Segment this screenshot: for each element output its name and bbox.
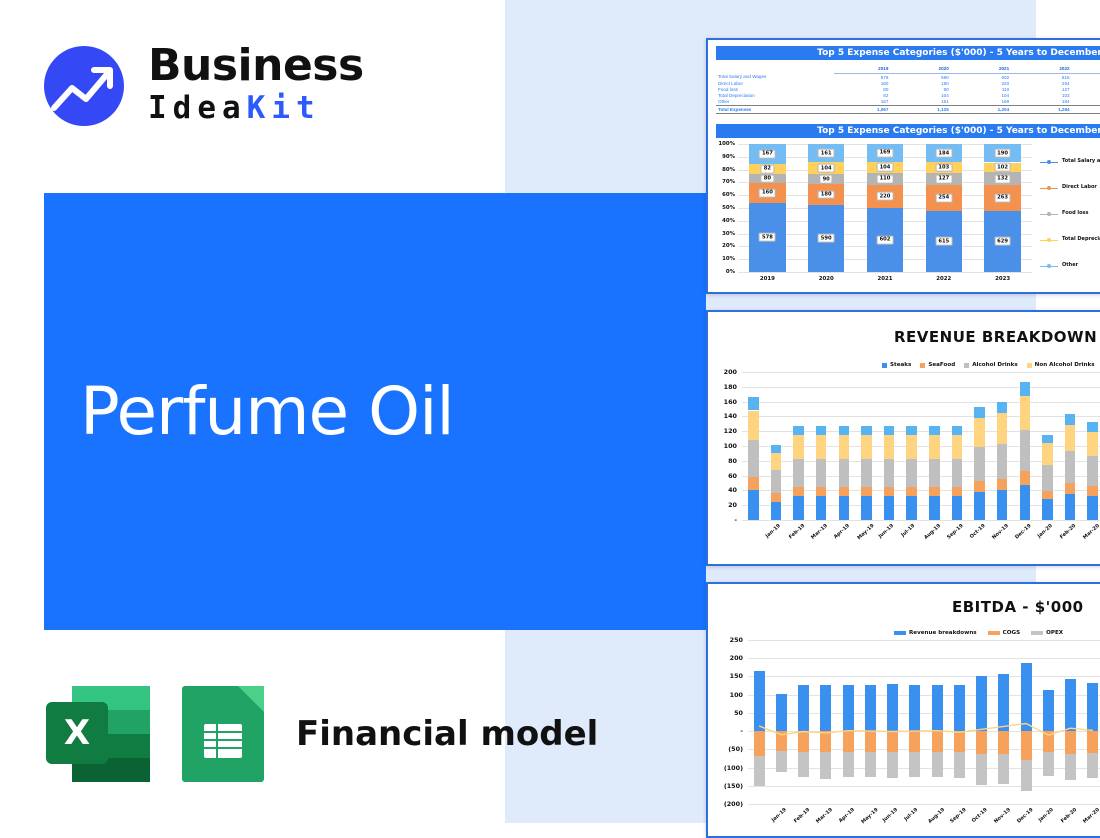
bar-segment — [820, 752, 831, 779]
bar: 602220110104169 — [867, 144, 903, 272]
legend-item: Direct Labor — [1062, 184, 1097, 190]
expense-stacked-chart: 100%90%80%70%60%50%40%30%20%10%0%5781608… — [716, 140, 1100, 290]
bar — [997, 372, 1007, 520]
y-axis-label: 40% — [716, 218, 735, 224]
chart-legend: SteaksSeaFoodAlcohol DrinksNon Alcohol D… — [882, 362, 1100, 368]
bar-value-label: 615 — [935, 237, 952, 246]
bar-segment: 161 — [808, 144, 844, 162]
x-axis-label: Aug-19 — [924, 523, 943, 541]
bar: 59018090104161 — [808, 144, 844, 272]
y-axis-label: 160 — [716, 398, 737, 406]
y-axis-label: (200) — [716, 800, 743, 808]
y-axis-label: (50) — [716, 745, 743, 753]
bar-segment: 169 — [867, 144, 903, 162]
bar-segment — [954, 731, 965, 752]
bar-value-label: 220 — [877, 192, 894, 201]
bar-segment — [861, 496, 871, 520]
bar-segment: 102 — [984, 163, 1020, 173]
bar-value-label: 127 — [935, 175, 952, 184]
bar-segment — [748, 490, 758, 520]
bar-value-label: 590 — [818, 234, 835, 243]
y-axis-label: 30% — [716, 231, 735, 237]
revenue-chart-title: REVENUE BREAKDOWN - $'000 — [894, 328, 1100, 346]
y-axis-label: 250 — [716, 636, 743, 644]
y-axis-label: 60% — [716, 192, 735, 198]
y-axis-label: (100) — [716, 764, 743, 772]
bar — [816, 372, 826, 520]
bar-segment — [906, 487, 916, 497]
bar-segment — [1065, 754, 1076, 780]
legend-label: SeaFood — [928, 362, 955, 368]
legend-swatch — [964, 363, 969, 368]
bar-segment — [1042, 491, 1052, 499]
bar-segment — [776, 751, 787, 772]
bar-segment — [952, 426, 962, 435]
bar-segment — [754, 756, 765, 787]
legend-swatch — [882, 363, 887, 368]
bar-value-label: 167 — [759, 150, 776, 159]
bar-segment — [776, 731, 787, 751]
legend-swatch — [1040, 266, 1058, 268]
bar — [1087, 683, 1098, 731]
y-axis-label: 40 — [716, 486, 737, 494]
bar-segment — [771, 445, 781, 452]
bar-segment — [906, 426, 916, 435]
bar-segment: 110 — [867, 173, 903, 185]
bar — [1087, 372, 1097, 520]
bar-segment — [976, 754, 987, 785]
bar — [998, 674, 1009, 732]
table-total-row: Total Expenses 1,067 1,125 1,204 1,284 1… — [716, 105, 1100, 113]
bar-segment: 263 — [984, 185, 1020, 211]
bar — [776, 694, 787, 731]
bar-segment — [820, 731, 831, 752]
bar-segment — [816, 459, 826, 488]
bar-segment — [1020, 471, 1030, 485]
page-title: Perfume Oil — [80, 373, 454, 450]
bar-segment — [839, 435, 849, 459]
bar-segment — [1087, 496, 1097, 520]
bar-value-label: 629 — [994, 237, 1011, 246]
gridline — [748, 786, 1100, 787]
bar-segment: 629 — [984, 211, 1020, 272]
screenshot-card-ebitda: EBITDA - $'000 Revenue breakdownsCOGSOPE… — [706, 582, 1100, 838]
bar-segment — [997, 444, 1007, 479]
bar-segment — [1020, 430, 1030, 471]
bar — [932, 685, 943, 731]
bar-value-label: 102 — [994, 163, 1011, 172]
bar-segment — [909, 752, 920, 777]
bar — [865, 685, 876, 731]
x-axis-label: May-19 — [860, 807, 879, 825]
excel-icon-letter: X — [46, 702, 108, 764]
bar-segment — [1065, 731, 1076, 754]
bar-segment — [1065, 483, 1075, 494]
legend-swatch — [1031, 631, 1043, 635]
bar-segment: 103 — [926, 162, 962, 172]
brand-logo: Business IdeaKit — [44, 42, 384, 130]
bar-segment — [974, 492, 984, 520]
x-axis-label: Feb-19 — [788, 523, 806, 540]
bar-segment — [1042, 435, 1052, 443]
expense-chart-title: Top 5 Expense Categories ($'000) - 5 Yea… — [716, 124, 1100, 138]
bar-segment: 132 — [984, 172, 1020, 185]
x-axis-label: Dec-19 — [1016, 807, 1035, 825]
bar: 615254127103184 — [926, 144, 962, 272]
bar-segment — [748, 477, 758, 490]
x-axis-label: Jan-19 — [765, 523, 782, 539]
bar-segment: 254 — [926, 185, 962, 210]
bar-segment — [1020, 382, 1030, 395]
bar — [974, 372, 984, 520]
bar-segment — [997, 490, 1007, 520]
bar-segment — [798, 731, 809, 752]
bar-segment — [839, 459, 849, 488]
bar-segment — [1043, 731, 1054, 751]
bar-value-label: 104 — [818, 164, 835, 173]
y-axis-label: 90% — [716, 154, 735, 160]
bar-segment: 184 — [926, 144, 962, 162]
bar-segment — [1020, 485, 1030, 520]
bar-segment — [839, 487, 849, 496]
x-axis-label: 2022 — [914, 276, 973, 282]
y-axis-label: 70% — [716, 179, 735, 185]
x-axis-label: Jan-19 — [770, 807, 787, 823]
x-axis-label: Jul-19 — [900, 523, 916, 538]
bar-segment — [861, 459, 871, 488]
google-sheets-icon — [170, 680, 278, 788]
bar-segment — [997, 413, 1007, 443]
x-axis-label: May-19 — [856, 523, 875, 541]
bar-segment — [793, 459, 803, 488]
gridline — [748, 676, 1100, 677]
bar-segment — [865, 752, 876, 777]
bar-segment — [861, 426, 871, 435]
bar-segment — [793, 496, 803, 520]
y-axis-label: 200 — [716, 368, 737, 376]
y-axis-label: 10% — [716, 256, 735, 262]
brand-name-line2-accent: Kit — [247, 90, 321, 126]
bar-segment — [974, 447, 984, 481]
x-axis-label: Jul-19 — [903, 807, 919, 822]
x-axis-label: Mar-19 — [810, 523, 829, 541]
legend-item: Total Depreciation — [1062, 236, 1100, 242]
x-axis-label: 2023 — [973, 276, 1032, 282]
x-axis-label: Nov-19 — [993, 807, 1012, 825]
y-axis-label: 20% — [716, 243, 735, 249]
gridline — [748, 640, 1100, 641]
bar — [884, 372, 894, 520]
gridline — [748, 658, 1100, 659]
bar-segment — [929, 496, 939, 520]
bar-segment — [906, 459, 916, 487]
bar-segment — [1042, 465, 1052, 492]
bar — [952, 372, 962, 520]
bar-segment — [771, 470, 781, 492]
brand-name-line2-dark: Idea — [148, 90, 247, 126]
y-axis-label: 80 — [716, 457, 737, 465]
bar-segment — [816, 487, 826, 496]
format-badges: X Financial model — [46, 680, 598, 788]
bar-segment — [843, 752, 854, 777]
bar-segment: 590 — [808, 205, 844, 272]
bar-segment — [748, 411, 758, 441]
bar-value-label: 263 — [994, 194, 1011, 203]
bar — [909, 685, 920, 731]
x-axis-label: Feb-20 — [1060, 807, 1078, 824]
bar-segment — [861, 487, 871, 496]
bar-segment — [932, 731, 943, 752]
bar-segment — [793, 487, 803, 496]
bar-value-label: 80 — [761, 174, 774, 183]
microsoft-excel-icon: X — [46, 680, 154, 788]
ebitda-chart-title: EBITDA - $'000 — [952, 598, 1084, 616]
y-axis-label: 80% — [716, 167, 735, 173]
bar-value-label: 90 — [820, 175, 833, 184]
bar — [1065, 372, 1075, 520]
bar-segment — [906, 435, 916, 459]
bar-segment — [998, 754, 1009, 784]
y-axis-label: 120 — [716, 427, 737, 435]
bar-segment — [1065, 414, 1075, 425]
bar-value-label: 161 — [818, 149, 835, 158]
bar-segment — [976, 731, 987, 754]
badge-label: Financial model — [296, 714, 598, 754]
bar — [1021, 663, 1032, 731]
bar-segment — [1087, 422, 1097, 432]
bar-segment — [929, 487, 939, 497]
bar-segment — [754, 731, 765, 755]
x-axis-label: Oct-19 — [969, 523, 987, 540]
bar-segment — [909, 731, 920, 752]
x-axis-label: Jan-20 — [1037, 807, 1054, 823]
bar-segment — [816, 426, 826, 435]
bar-segment — [1087, 432, 1097, 456]
x-axis-label: Jan-20 — [1036, 523, 1053, 539]
bar-segment — [793, 426, 803, 435]
bar-segment — [1021, 731, 1032, 759]
table-row: Total Salary and Wages 578 590 602 615 6… — [716, 74, 1100, 81]
x-axis-label: Mar-20 — [1082, 807, 1100, 825]
x-axis-label: Apr-19 — [837, 807, 855, 824]
bar-segment — [865, 731, 876, 752]
bar-segment — [974, 418, 984, 447]
bar-segment — [1042, 499, 1052, 520]
bar-segment — [1043, 752, 1054, 777]
bar: 629263132102190 — [984, 144, 1020, 272]
bar-segment — [861, 435, 871, 459]
bar-segment — [748, 397, 758, 410]
gridline — [738, 272, 1032, 273]
table-row: Other 167 161 169 184 190 — [716, 99, 1100, 106]
revenue-breakdown-chart: SteaksSeaFoodAlcohol DrinksNon Alcohol D… — [716, 346, 1100, 562]
legend-label: Revenue breakdowns — [909, 630, 977, 636]
bar-segment — [1087, 753, 1098, 779]
bar — [793, 372, 803, 520]
bar-segment — [997, 479, 1007, 491]
bar — [1043, 690, 1054, 731]
gridline — [748, 804, 1100, 805]
x-axis-label: 2021 — [856, 276, 915, 282]
legend-label: Alcohol Drinks — [972, 362, 1017, 368]
bar-segment: 602 — [867, 208, 903, 272]
x-axis-label: Oct-19 — [971, 807, 989, 824]
bar-segment — [816, 435, 826, 459]
bar-value-label: 103 — [935, 163, 952, 172]
bar-segment — [952, 459, 962, 487]
bar-segment: 190 — [984, 144, 1020, 162]
bar-segment — [906, 496, 916, 520]
bar — [1042, 372, 1052, 520]
x-axis-label: Aug-19 — [927, 807, 946, 825]
bar-segment: 220 — [867, 185, 903, 208]
bar-segment — [884, 496, 894, 520]
bar — [839, 372, 849, 520]
legend-item: Other — [1062, 262, 1078, 268]
bar-value-label: 254 — [935, 194, 952, 203]
bar-value-label: 190 — [994, 149, 1011, 158]
y-axis-label: 50 — [716, 709, 743, 717]
x-axis-label: Mar-19 — [815, 807, 834, 825]
legend-swatch — [894, 631, 906, 635]
bar-segment — [793, 435, 803, 459]
bar-value-label: 578 — [759, 233, 776, 242]
bar-segment — [952, 496, 962, 520]
bar-segment: 90 — [808, 174, 844, 184]
y-axis-label: 0% — [716, 269, 735, 275]
bar-segment — [887, 731, 898, 752]
expense-table: 2019 2020 2021 2022 2023 Total Salary an… — [716, 66, 1100, 114]
bar-segment — [929, 435, 939, 459]
bar-segment — [997, 402, 1007, 413]
bar — [887, 684, 898, 731]
bar — [954, 685, 965, 731]
x-axis-label: Feb-20 — [1059, 523, 1077, 540]
legend-swatch — [920, 363, 925, 368]
bar-segment: 180 — [808, 184, 844, 204]
screenshot-card-revenue: REVENUE BREAKDOWN - $'000 SteaksSeaFoodA… — [706, 310, 1100, 566]
bar-segment: 104 — [808, 162, 844, 174]
bar-segment: 104 — [867, 162, 903, 173]
bar-segment — [1065, 425, 1075, 451]
bar-segment — [884, 426, 894, 435]
trend-up-arrow-icon — [44, 46, 124, 126]
legend-label: Non Alcohol Drinks — [1035, 362, 1095, 368]
bar-segment: 167 — [749, 144, 785, 164]
bar-segment — [884, 459, 894, 487]
bar-segment — [998, 731, 1009, 754]
table-header-row: 2019 2020 2021 2022 2023 — [716, 66, 1100, 74]
y-axis-label: 200 — [716, 654, 743, 662]
bar-value-label: 169 — [877, 149, 894, 158]
legend-swatch — [1040, 162, 1058, 164]
expense-table-title: Top 5 Expense Categories ($'000) - 5 Yea… — [716, 46, 1100, 60]
bar-segment — [932, 752, 943, 777]
bar-segment — [974, 407, 984, 418]
bar-value-label: 184 — [935, 149, 952, 158]
bar-segment — [952, 435, 962, 459]
legend-swatch — [1040, 188, 1058, 190]
legend-label: OPEX — [1046, 630, 1063, 636]
bar — [754, 671, 765, 731]
y-axis-label: - — [716, 516, 737, 524]
bar-segment — [929, 426, 939, 435]
x-axis-label: Sep-19 — [949, 807, 968, 825]
bar-segment — [884, 487, 894, 497]
bar-segment — [771, 453, 781, 471]
y-axis-label: 50% — [716, 205, 735, 211]
bar-segment — [1020, 396, 1030, 431]
y-axis-label: - — [716, 727, 743, 735]
x-axis-label: Dec-19 — [1014, 523, 1033, 541]
bar-segment — [929, 459, 939, 487]
y-axis-label: (150) — [716, 782, 743, 790]
bar — [906, 372, 916, 520]
legend-label: Steaks — [890, 362, 911, 368]
bar-segment — [1087, 731, 1098, 753]
y-axis-label: 60 — [716, 472, 737, 480]
chart-legend: Revenue breakdownsCOGSOPEX — [894, 630, 1071, 636]
bar — [771, 372, 781, 520]
y-axis-label: 100 — [716, 691, 743, 699]
gridline — [742, 520, 1100, 521]
bar-segment: 578 — [749, 203, 785, 272]
x-axis-label: 2020 — [797, 276, 856, 282]
bar — [929, 372, 939, 520]
x-axis-label: Apr-19 — [833, 523, 851, 540]
ebitda-chart: Revenue breakdownsCOGSOPEX25020015010050… — [716, 616, 1100, 838]
bar-segment — [1087, 486, 1097, 496]
legend-swatch — [988, 631, 1000, 635]
bar — [820, 685, 831, 731]
bar-segment — [884, 435, 894, 459]
x-axis-label: Jun-19 — [882, 807, 899, 824]
bar-segment — [954, 752, 965, 778]
bar-segment: 80 — [749, 174, 785, 184]
bar-segment — [1065, 451, 1075, 483]
legend-swatch — [1040, 214, 1058, 216]
brand-name-line1: Business — [148, 42, 364, 90]
y-axis-label: 180 — [716, 383, 737, 391]
y-axis-label: 100% — [716, 141, 735, 147]
bar-segment: 160 — [749, 183, 785, 202]
legend-item: Food loss — [1062, 210, 1089, 216]
bar-segment — [816, 496, 826, 520]
x-axis-label: Feb-19 — [793, 807, 811, 824]
bar-segment — [839, 496, 849, 520]
y-axis-label: 20 — [716, 501, 737, 509]
legend-label: COGS — [1003, 630, 1020, 636]
bar-value-label: 602 — [877, 236, 894, 245]
y-axis-label: 150 — [716, 672, 743, 680]
bar — [748, 372, 758, 520]
bar — [1065, 679, 1076, 731]
bar — [1020, 372, 1030, 520]
x-axis-label: Sep-19 — [946, 523, 965, 541]
y-axis-label: 100 — [716, 442, 737, 450]
bar — [976, 676, 987, 731]
bar-segment — [839, 426, 849, 435]
bar-segment — [952, 487, 962, 497]
bar: 5781608082167 — [749, 144, 785, 272]
bar-value-label: 104 — [877, 163, 894, 172]
bar-segment — [887, 752, 898, 778]
bar-segment — [1042, 443, 1052, 464]
legend-swatch — [1040, 240, 1058, 242]
bar — [843, 685, 854, 731]
x-axis-label: Mar-20 — [1082, 523, 1100, 541]
bar-segment — [974, 481, 984, 492]
